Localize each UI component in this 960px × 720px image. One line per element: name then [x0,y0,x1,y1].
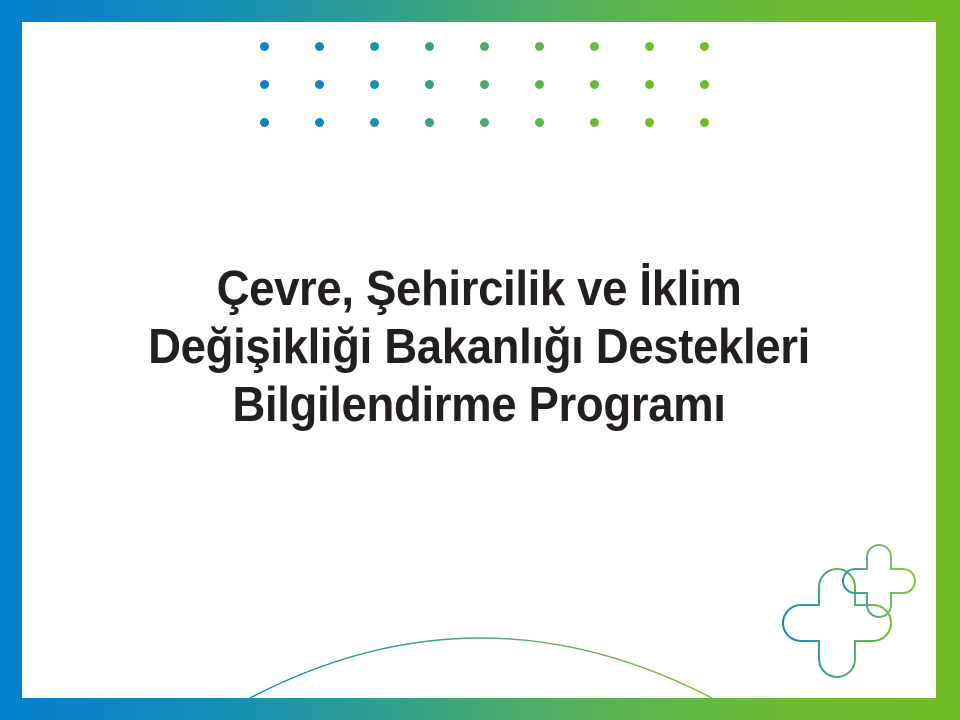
content-panel: Çevre, Şehircilik ve İklim Değişikliği B… [22,22,936,698]
plus-small-icon [843,545,915,617]
grid-dot [260,42,269,51]
plus-large-icon [783,569,891,677]
grid-dot [425,80,434,89]
grid-dot [645,118,654,127]
grid-dot [315,80,324,89]
grid-dot [590,118,599,127]
grid-dot [700,42,709,51]
title-line-1: Çevre, Şehircilik ve İklim [54,260,904,318]
grid-dot [370,42,379,51]
grid-dot [590,42,599,51]
grid-dot [480,42,489,51]
grid-dot [260,118,269,127]
grid-dot [645,80,654,89]
title-line-2: Değişikliği Bakanlığı Destekleri [54,318,904,376]
grid-dot [315,42,324,51]
grid-dot [480,80,489,89]
title-line-3: Bilgilendirme Programı [54,376,904,434]
grid-dot [535,80,544,89]
grid-dot [425,118,434,127]
grid-dot [480,118,489,127]
slide-canvas: Çevre, Şehircilik ve İklim Değişikliği B… [0,0,960,720]
arc-path [250,638,712,698]
grid-dot [315,118,324,127]
grid-dot [370,80,379,89]
grid-dot [370,118,379,127]
grid-dot [700,118,709,127]
page-title: Çevre, Şehircilik ve İklim Değişikliği B… [22,260,936,434]
dot-grid-decoration [260,42,708,126]
grid-dot [700,80,709,89]
grid-dot [425,42,434,51]
grid-dot [645,42,654,51]
grid-dot [590,80,599,89]
grid-dot [535,42,544,51]
grid-dot [535,118,544,127]
grid-dot [260,80,269,89]
